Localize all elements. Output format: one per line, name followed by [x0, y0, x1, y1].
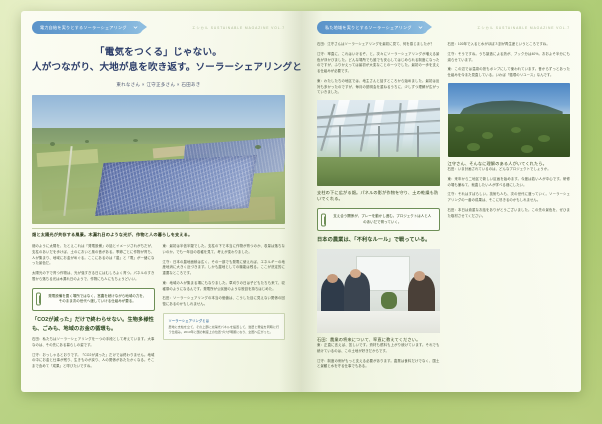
left-page-header: 電力自給を実りとするソーラーシェアリング エシカル SUSTAINABLE MA…: [32, 20, 285, 35]
body-paragraph: 石田：私たちはソーラーシェアリングを一つの手段として考えています。大事なのは、そ…: [32, 337, 155, 349]
right-subheading: 日本の農業は、「不利なルール」で戦っている。: [317, 236, 440, 244]
body-paragraph: 石田：100年で入ると水がほぼ３割が再生産というところですね。: [448, 42, 571, 48]
magazine-title-right: エシカル SUSTAINABLE MAGAZINE VOL.7: [477, 25, 570, 30]
body-paragraph: 江守：そうですね。うち製造による熱が、ブック分は40%。おおよそ半分にも減らせて…: [448, 52, 571, 64]
pull-quote-left: 発電設備を置く場所ではなく、営農を続けながら地域の力を、そのまま次の世代へ渡して…: [32, 288, 155, 312]
photo-caption-under-panels: 支柱の下に広がる畑。パネルの影が作物を守り、土の乾燥も防いでくれる。: [317, 190, 440, 203]
body-paragraph: 畑のように太陽を、たとえこれは「発電設備」の話とイメージされがちだが、支柱のあい…: [32, 244, 155, 267]
page-title: 「電気をつくる」じゃない。 人がつながり、大地が息を吹き返す。ソーラーシェアリン…: [32, 46, 285, 76]
right-page: 私た地域を実りとするソーラーシェアリング エシカル SUSTAINABLE MA…: [301, 11, 581, 392]
body-paragraph: 東：この辺では温泉の熱もポンプにして使われています。昔からずっとあった仕組みを今…: [448, 67, 571, 79]
magazine-title-left: エシカル SUSTAINABLE MAGAZINE VOL.7: [192, 25, 285, 30]
page-title-line2: 人がつながり、大地が息を吹き返す。ソーラーシェアリングという希望: [32, 61, 285, 76]
right-page-header: 私た地域を実りとするソーラーシェアリング エシカル SUSTAINABLE MA…: [317, 20, 570, 35]
left-subheading: 「CO2が減った」だけで終わらせない。生物多様性も、ごみも、地域のお金の循環も。: [32, 316, 155, 333]
quote-marker-icon: [321, 213, 326, 226]
chevron-down-icon: [418, 25, 423, 30]
section-tag-pill-right[interactable]: 私た地域を実りとするソーラーシェアリング: [317, 21, 428, 34]
right-column-2: 石田：100年で入ると水がほぼ３割が再生産というところですね。 江守：そうですね…: [448, 42, 571, 374]
photo-under-panels: [317, 100, 440, 186]
info-note-text: 農地に支柱を立て、その上部に太陽光パネルを設置して、営農と発電を同時に行う仕組み…: [169, 325, 280, 335]
body-paragraph: 江守：それはすばらしい。技術も人も、次の世代に渡っていく。ソーラーシェアリングの…: [448, 192, 571, 204]
pull-quote-text: 発電設備を置く場所ではなく、営農を続けながら地域の力を、そのまま次の世代へ渡して…: [48, 294, 146, 304]
right-columns: 石田：江守さんはソーラーシェアリングを最初に見て、何を感じましたか？ 江守：率直…: [317, 42, 570, 374]
photo-discussion: [317, 249, 440, 333]
body-paragraph: 東：最初は半信半疑でした。支柱の下で本当に作物が育つのか、収量は落ちないのか。で…: [163, 244, 286, 256]
body-paragraph: 江守：おっしゃるとおりです。「CO2が減った」だけでは終わりません。地域の中にお…: [32, 353, 155, 370]
left-column-2: 東：最初は半信半疑でした。支柱の下で本当に作物が育つのか、収量は落ちないのか。で…: [163, 244, 286, 374]
left-column-1: 畑のように太陽を、たとえこれは「発電設備」の話とイメージされがちだが、支柱のあい…: [32, 244, 155, 374]
chevron-down-icon: [133, 25, 138, 30]
body-paragraph: 東：わたしたちの地区では、地主さんと話すところから始めました。最初は反対も多かっ…: [317, 79, 440, 96]
body-paragraph: 江守：日本の農地面積は広く、その一部でも発電に使えれば、エネルギーの地産地消に大…: [163, 260, 286, 277]
body-paragraph: 江守：制度の側がもっと支える必要があります。農業は食料だけでなく、国土と景観と水…: [317, 359, 440, 371]
left-page: 電力自給を実りとするソーラーシェアリング エシカル SUSTAINABLE MA…: [21, 11, 301, 392]
byline: 東れなさん × 江守正多さん × 石田あき: [32, 82, 285, 88]
hero-photo-caption: 畑と太陽光が共存する風景。木漏れ日のような光が、作物と人の暮らしを支える。: [32, 228, 285, 238]
body-paragraph: 東：来年から二地区で新しい区画を始めます。今度は若い人が中心です。研修の場も兼ね…: [448, 177, 571, 189]
quote-marker-icon: [36, 293, 41, 306]
body-paragraph: 石田：本日は貴重なお話をありがとうございました。この先の景色を、ぜひまた取材させ…: [448, 208, 571, 220]
pull-quote-right: 支え合う関係が、プレーを動かし進む。プロジェクトは人と人のあいだで育っていく。: [317, 208, 440, 232]
hero-photo-solar-farm: [32, 95, 285, 224]
pull-quote-text: 支え合う関係が、プレーを動かし進む。プロジェクトは人と人のあいだで育っていく。: [333, 214, 431, 224]
photo-mountain-field: [448, 83, 571, 157]
section-tag-label-right: 私た地域を実りとするソーラーシェアリング: [325, 25, 412, 31]
body-paragraph: 東：正直に言えば、苦しいです。資材も燃料も上がり続けています。それでも続けている…: [317, 343, 440, 355]
body-paragraph: 江守：率直に、これはいけるぞ、と。次々にソーラーシェアリングが増える景色が浮かび…: [317, 52, 440, 75]
page-title-line1: 「電気をつくる」じゃない。: [32, 46, 285, 61]
body-paragraph: 東：地域の人が集まる場にもなりました。草刈りの日は子どもたちも来て、収穫祭のよう…: [163, 281, 286, 293]
magazine-spread: 電力自給を実りとするソーラーシェアリング エシカル SUSTAINABLE MA…: [21, 11, 581, 392]
left-columns: 畑のように太陽を、たとえこれは「発電設備」の話とイメージされがちだが、支柱のあい…: [32, 244, 285, 374]
body-paragraph: 石田：ソーラーシェアリングの本当の価値は、こうした目に見えない関係の回復にあるの…: [163, 296, 286, 308]
right-column-1: 石田：江守さんはソーラーシェアリングを最初に見て、何を感じましたか？ 江守：率直…: [317, 42, 440, 374]
body-paragraph: 太陽光の下で育つ作物は、光が強すぎる日にはむしろよく育つ。パネルのすき間から落ち…: [32, 271, 155, 283]
section-tag-label-left: 電力自給を実りとするソーラーシェアリング: [40, 25, 127, 31]
info-note-box: ソーラーシェアリングとは 農地に支柱を立て、その上部に太陽光パネルを設置して、営…: [163, 313, 286, 340]
section-tag-pill-left[interactable]: 電力自給を実りとするソーラーシェアリング: [32, 21, 143, 34]
info-note-title: ソーラーシェアリングとは: [169, 318, 280, 323]
body-paragraph: 石田：いま計画されているのは、どんなプロジェクトでしょうか。: [448, 167, 571, 173]
body-paragraph: 石田：江守さんはソーラーシェアリングを最初に見て、何を感じましたか？: [317, 42, 440, 48]
